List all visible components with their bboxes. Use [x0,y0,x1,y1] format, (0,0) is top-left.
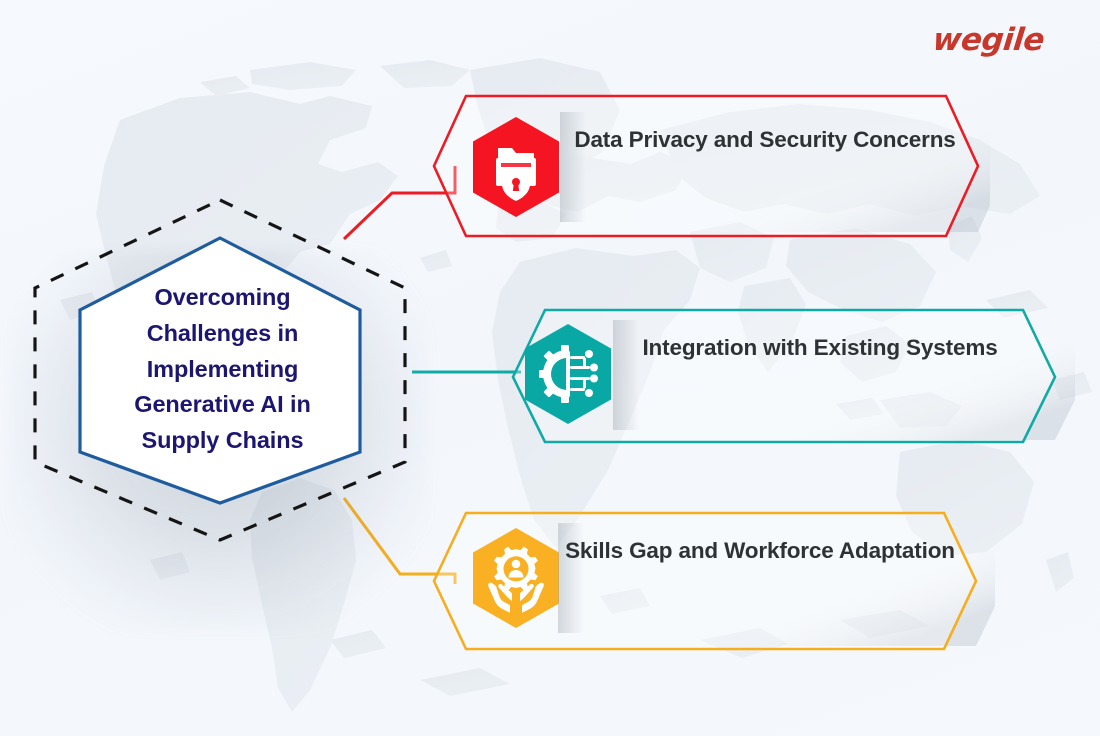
card-skills-gap-icon [468,525,560,627]
card-skills-gap[interactable]: Skills Gap and Workforce Adaptation [430,495,995,673]
hero-title: Overcoming Challenges in Implementing Ge… [100,252,345,487]
hero-hexagon: Overcoming Challenges in Implementing Ge… [25,190,415,550]
card-data-privacy-title: Data Privacy and Security Concerns [570,122,960,158]
brand-logo: wegile [931,22,1046,58]
card-integration-existing-systems[interactable]: Integration with Existing Systems [495,292,1075,470]
card-integration-icon [520,321,612,423]
card-skills-gap-title: Skills Gap and Workforce Adaptation [560,533,960,569]
card-integration-title: Integration with Existing Systems [620,330,1020,366]
card-data-privacy-icon [468,114,560,216]
infographic-canvas: wegile Overcoming Challenges in Implemen… [0,0,1100,736]
card-data-privacy[interactable]: Data Privacy and Security Concerns [430,78,990,260]
